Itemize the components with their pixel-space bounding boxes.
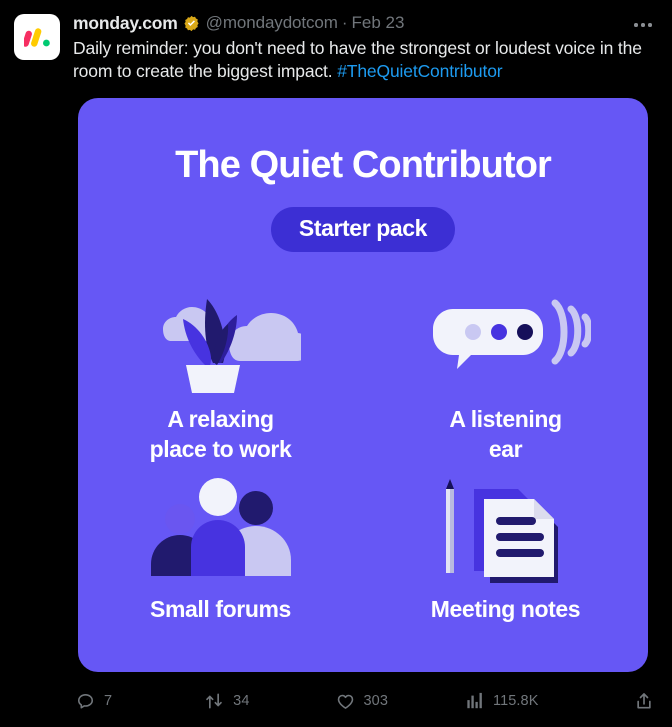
grid-item-label: Meeting notes bbox=[431, 594, 580, 624]
views-button[interactable]: 115.8K bbox=[466, 692, 538, 710]
share-button[interactable] bbox=[634, 691, 654, 711]
separator: · bbox=[342, 13, 348, 33]
post-date[interactable]: Feb 23 bbox=[352, 13, 405, 33]
post-hashtag[interactable]: #TheQuietContributor bbox=[337, 61, 502, 81]
author-handle[interactable]: @mondaydotcom bbox=[206, 13, 338, 33]
grid-item-label: A listeningear bbox=[449, 404, 561, 464]
tweet-post: monday.com @mondaydotcom · Feb 23 Daily … bbox=[0, 0, 672, 727]
grid-item-label: Small forums bbox=[150, 594, 291, 624]
heart-icon bbox=[336, 692, 355, 711]
views-count: 115.8K bbox=[493, 693, 538, 709]
monday-com-logo-icon bbox=[24, 27, 50, 47]
grid-item: A listeningear bbox=[363, 278, 648, 464]
avatar[interactable] bbox=[14, 14, 60, 60]
grid-item: Meeting notes bbox=[363, 468, 648, 654]
potted-plant-icon bbox=[141, 278, 301, 396]
starter-pack-badge: Starter pack bbox=[271, 207, 455, 252]
retweet-icon bbox=[204, 691, 224, 711]
retweet-count: 34 bbox=[233, 693, 249, 709]
share-upload-icon bbox=[634, 691, 654, 711]
media-card-title: The Quiet Contributor bbox=[78, 144, 648, 187]
analytics-bars-icon bbox=[466, 692, 484, 710]
group-of-people-icon bbox=[146, 468, 296, 586]
like-button[interactable]: 303 bbox=[336, 692, 389, 711]
display-name[interactable]: monday.com bbox=[73, 13, 178, 34]
author-line: monday.com @mondaydotcom · Feb 23 bbox=[73, 12, 658, 34]
grid-item: Small forums bbox=[78, 468, 363, 654]
documents-pencil-icon bbox=[426, 468, 586, 586]
retweet-button[interactable]: 34 bbox=[204, 691, 249, 711]
reply-count: 7 bbox=[104, 693, 112, 709]
media-card[interactable]: The Quiet Contributor Starter pack bbox=[78, 98, 648, 672]
post-text: Daily reminder: you don't need to have t… bbox=[73, 37, 658, 82]
starter-pack-grid: A relaxingplace to work A listeningear bbox=[78, 278, 648, 654]
grid-item: A relaxingplace to work bbox=[78, 278, 363, 464]
media-container: The Quiet Contributor Starter pack bbox=[14, 98, 658, 672]
verified-badge-icon[interactable] bbox=[183, 15, 200, 32]
like-count: 303 bbox=[364, 693, 389, 709]
post-header: monday.com @mondaydotcom · Feb 23 Daily … bbox=[14, 12, 658, 82]
reply-icon bbox=[76, 692, 95, 711]
more-options-icon[interactable] bbox=[628, 15, 658, 35]
speech-bubble-sound-icon bbox=[421, 278, 591, 396]
grid-item-label: A relaxingplace to work bbox=[150, 404, 292, 464]
reply-button[interactable]: 7 bbox=[76, 692, 112, 711]
post-action-bar: 7 34 303 bbox=[14, 675, 658, 727]
media-card-badge-row: Starter pack bbox=[78, 207, 648, 252]
post-header-content: monday.com @mondaydotcom · Feb 23 Daily … bbox=[60, 12, 658, 82]
